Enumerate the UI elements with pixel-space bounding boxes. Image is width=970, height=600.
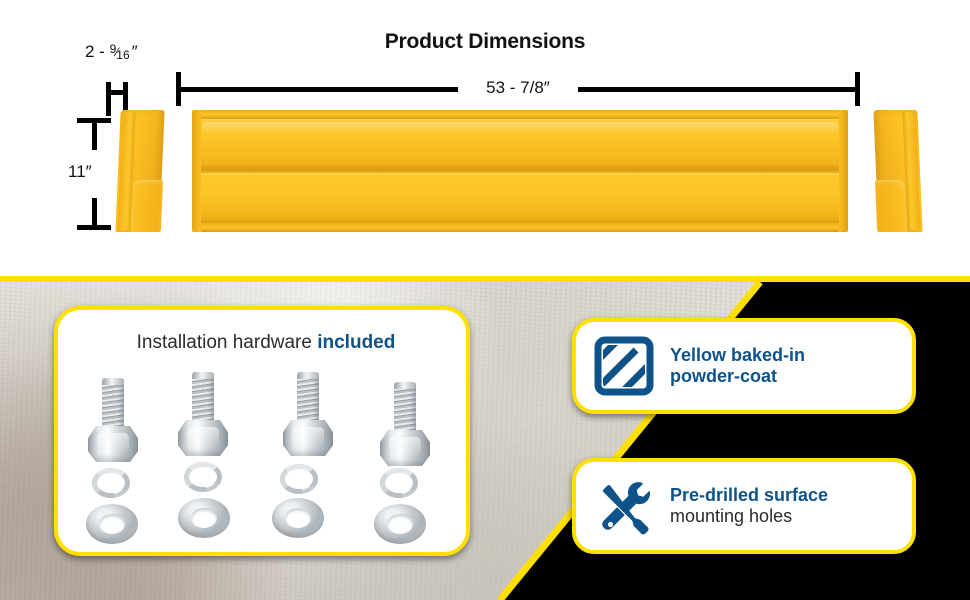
bolt-threaded-shank	[394, 382, 416, 438]
hex-bolt	[88, 378, 138, 462]
split-lock-washer	[380, 468, 418, 498]
feature-line-1: Pre-drilled surface	[670, 485, 828, 506]
beam-highlight	[202, 122, 838, 134]
feature-text-mounting-holes: Pre-drilled surface mounting holes	[670, 485, 828, 527]
end-cap-mounting-tab	[131, 180, 163, 232]
flat-washer	[374, 504, 426, 544]
flat-washer	[272, 498, 324, 538]
length-dimension-label: 53 - 7/8″	[176, 78, 860, 98]
beam-left-end	[192, 110, 201, 232]
hardware-heading-plain: Installation hardware	[137, 332, 318, 353]
infographic-root: Product Dimensions 2 - 9⁄16″ 11″ 53 - 7/…	[0, 0, 970, 600]
beam-top-flange	[192, 110, 848, 119]
width-denominator: 16	[116, 48, 129, 62]
page-title: Product Dimensions	[0, 30, 970, 54]
feature-card-powder-coat: Yellow baked-in powder-coat	[572, 318, 916, 414]
wrench-screwdriver-icon	[594, 476, 654, 536]
hardware-heading-emphasis: included	[317, 332, 395, 353]
end-cap-mounting-tab	[875, 180, 907, 232]
split-lock-washer	[92, 468, 130, 498]
height-top-stem	[92, 118, 97, 150]
width-whole: 2 -	[85, 42, 110, 61]
feature-card-mounting-holes: Pre-drilled surface mounting holes	[572, 458, 916, 554]
bolt-threaded-shank	[297, 372, 319, 428]
width-dimension-label: 2 - 9⁄16″	[85, 42, 138, 62]
bolt-hex-head	[380, 430, 430, 466]
beam-bottom-flange	[192, 223, 848, 232]
width-fraction: 9⁄16	[110, 46, 132, 58]
flat-washer	[178, 498, 230, 538]
beam-right-end	[839, 110, 848, 232]
guardrail-right-end-cap	[876, 110, 920, 232]
feature-text-powder-coat: Yellow baked-in powder-coat	[670, 345, 805, 387]
feature-line-2: mounting holes	[670, 506, 828, 527]
split-lock-washer	[280, 464, 318, 494]
hatched-square-icon	[594, 336, 654, 396]
section-divider	[0, 276, 970, 282]
length-dimension-marker: 53 - 7/8″	[176, 72, 860, 106]
guardrail-left-end-cap	[118, 110, 162, 232]
installation-hardware-card: Installation hardware included	[54, 306, 470, 556]
hex-bolt	[380, 382, 430, 466]
hardware-card-heading: Installation hardware included	[58, 332, 474, 354]
bolt-hex-head	[178, 420, 228, 456]
height-bottom-cap	[77, 225, 111, 230]
flat-washer	[86, 504, 138, 544]
bolt-hex-head	[283, 420, 333, 456]
width-unit: ″	[132, 42, 138, 61]
bracket-left-tick	[106, 82, 111, 116]
guardrail-beam	[192, 110, 848, 232]
hex-bolt	[283, 372, 333, 456]
beam-lower-panel	[192, 173, 848, 223]
height-dimension-marker	[77, 118, 111, 230]
split-lock-washer	[184, 462, 222, 492]
feature-line-1: Yellow baked-in	[670, 345, 805, 366]
hardware-illustration	[80, 372, 452, 542]
bolt-hex-head	[88, 426, 138, 462]
feature-line-2: powder-coat	[670, 366, 805, 387]
bolt-threaded-shank	[102, 378, 124, 434]
hex-bolt	[178, 372, 228, 456]
bolt-threaded-shank	[192, 372, 214, 428]
product-dimensions-section: Product Dimensions 2 - 9⁄16″ 11″ 53 - 7/…	[0, 0, 970, 280]
